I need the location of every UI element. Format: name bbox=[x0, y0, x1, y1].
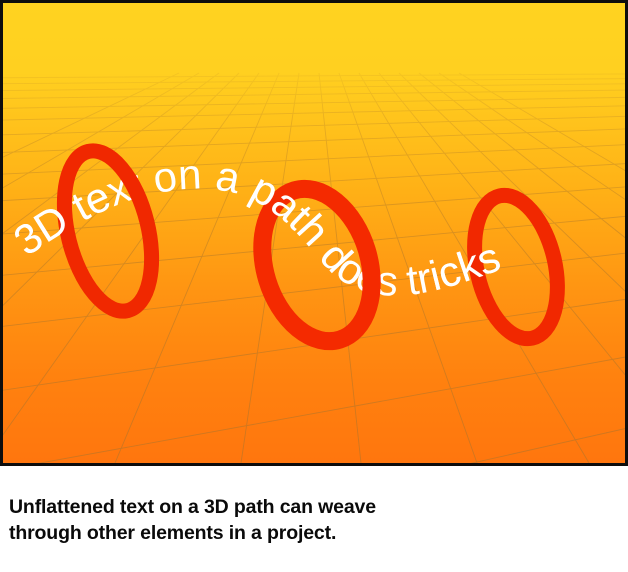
figure: 3D text on a path does tricks 3D text on… bbox=[0, 0, 628, 572]
figure-caption: Unflattened text on a 3D path can weave … bbox=[0, 466, 628, 572]
caption-line-2: through other elements in a project. bbox=[9, 520, 618, 546]
3d-viewport[interactable]: 3D text on a path does tricks 3D text on… bbox=[0, 0, 628, 466]
3d-scene: 3D text on a path does tricks 3D text on… bbox=[3, 3, 625, 463]
caption-line-1: Unflattened text on a 3D path can weave bbox=[9, 494, 618, 520]
